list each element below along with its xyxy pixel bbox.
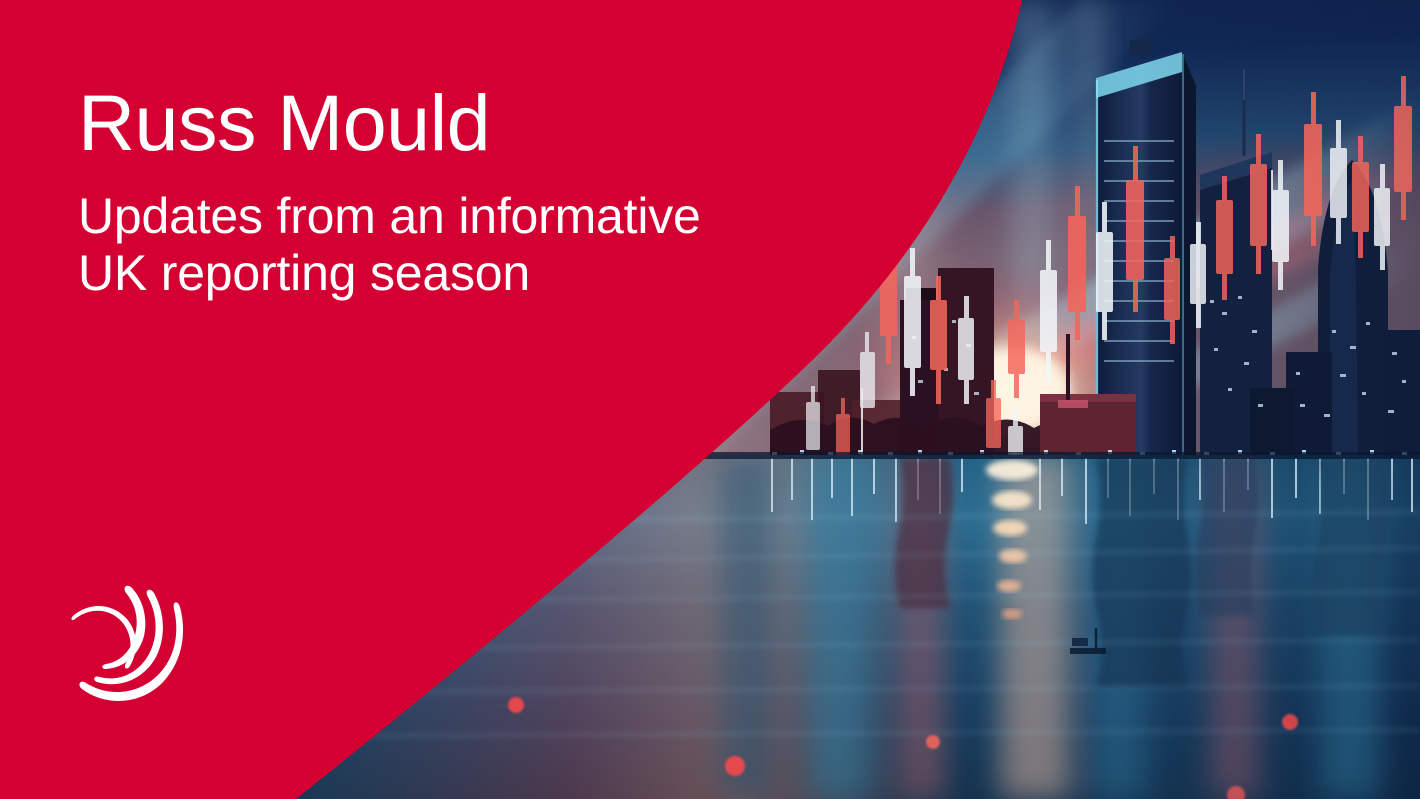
subtitle-line-1: Updates from an informative bbox=[78, 188, 898, 245]
page-subtitle: Updates from an informative UK reporting… bbox=[78, 188, 898, 302]
page-title: Russ Mould bbox=[78, 80, 898, 166]
subtitle-line-2: UK reporting season bbox=[78, 245, 898, 302]
aj-bell-swoosh-logo bbox=[70, 585, 195, 715]
hero-banner: Russ Mould Updates from an informative U… bbox=[0, 0, 1420, 799]
hero-text-block: Russ Mould Updates from an informative U… bbox=[78, 80, 898, 302]
